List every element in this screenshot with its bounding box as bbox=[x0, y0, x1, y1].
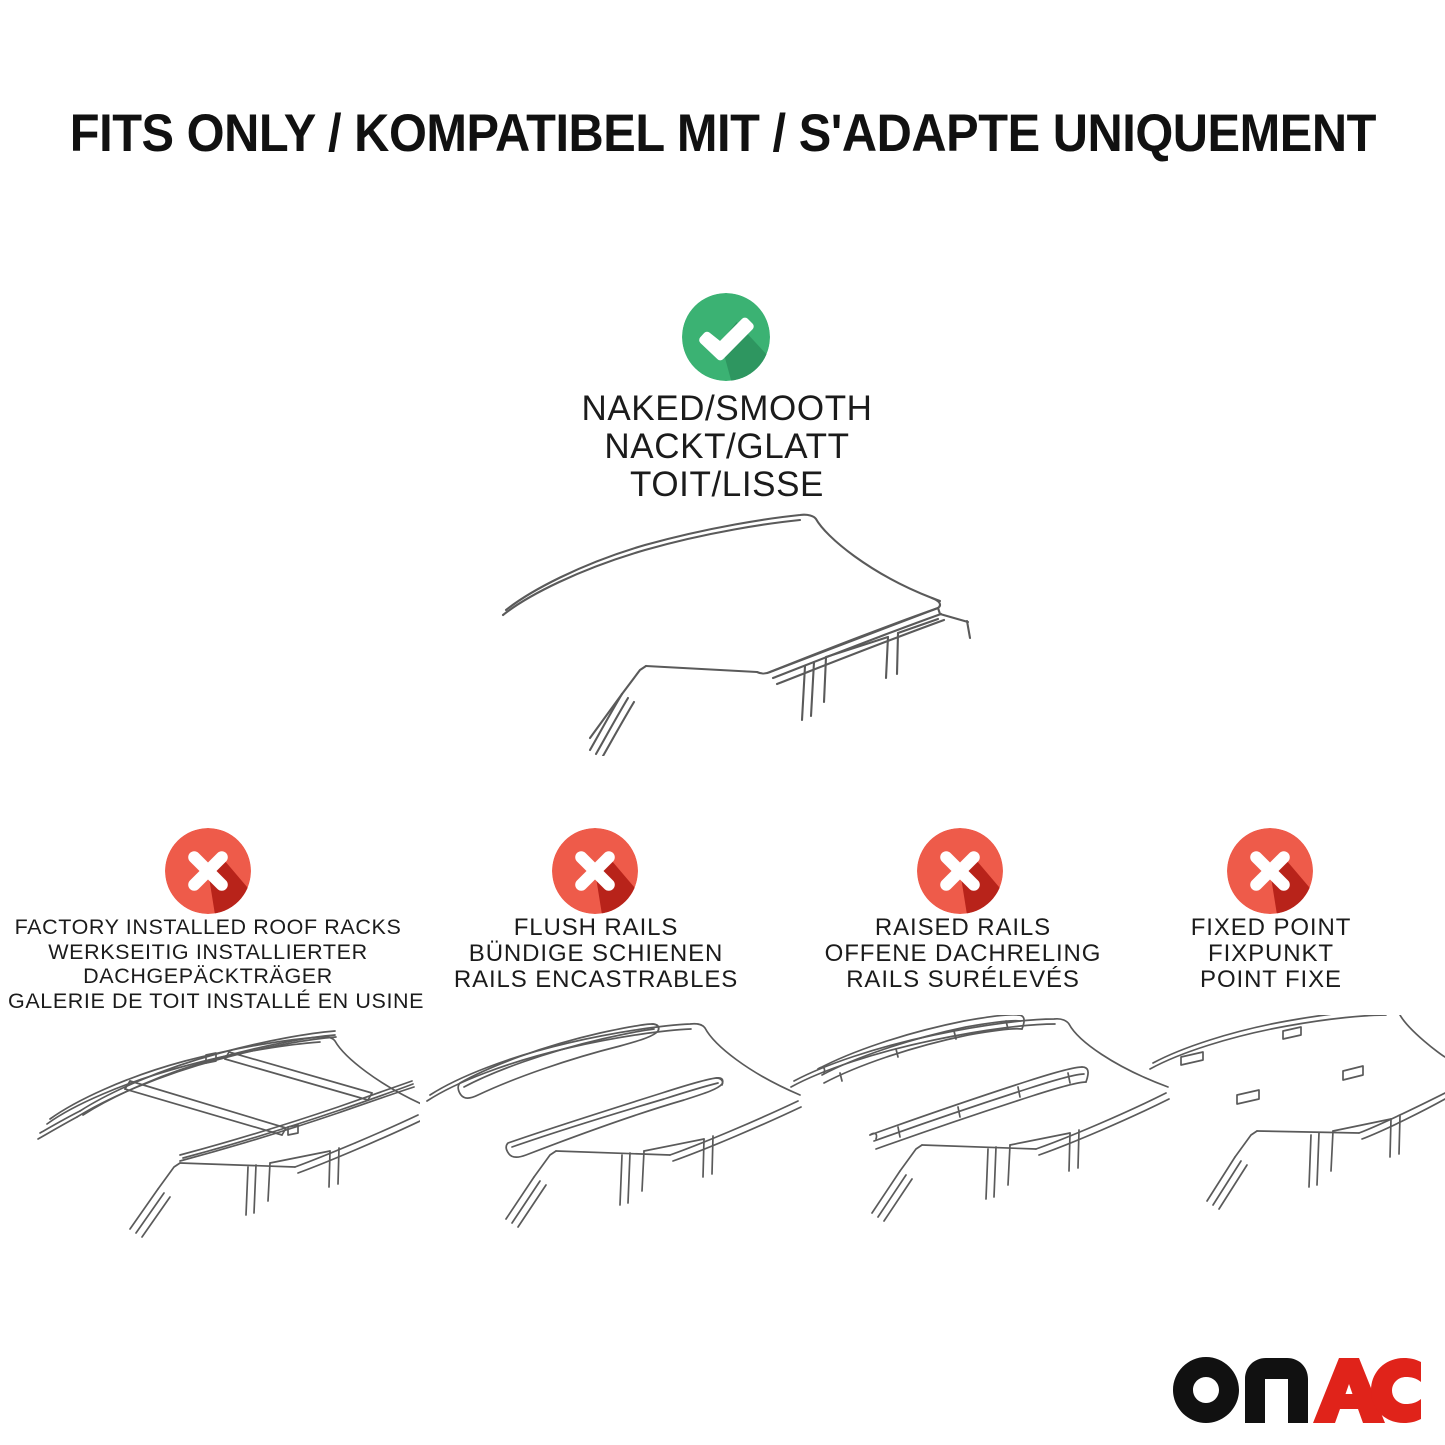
compatible-label: NAKED/SMOOTH NACKT/GLATT TOIT/LISSE bbox=[487, 390, 967, 504]
incompatible-label-fixed-point: FIXED POINT FIXPUNKT POINT FIXE bbox=[1140, 915, 1402, 993]
label-line-2: WERKSEITIG INSTALLIERTER bbox=[8, 940, 408, 965]
car-roof-factory-racks-illustration bbox=[20, 1015, 420, 1255]
label-line-2: OFFENE DACHRELING bbox=[788, 941, 1138, 967]
cross-circle-icon bbox=[1227, 828, 1313, 914]
car-roof-raised-rails-illustration bbox=[778, 1015, 1178, 1255]
page-title: FITS ONLY / KOMPATIBEL MIT / S'ADAPTE UN… bbox=[0, 104, 1445, 164]
label-line-2: FIXPUNKT bbox=[1140, 941, 1402, 967]
page-title-text: FITS ONLY / KOMPATIBEL MIT / S'ADAPTE UN… bbox=[69, 104, 1375, 164]
car-roof-naked-smooth-illustration bbox=[470, 488, 990, 756]
omac-logo bbox=[1173, 1357, 1421, 1423]
label-line-2: BÜNDIGE SCHIENEN bbox=[420, 941, 772, 967]
label-line-3: RAILS ENCASTRABLES bbox=[420, 967, 772, 993]
compatible-label-line-2: NACKT/GLATT bbox=[487, 428, 967, 466]
label-line-3: DACHGEPÄCKTRÄGER bbox=[8, 964, 408, 989]
label-line-4: GALERIE DE TOIT INSTALLÉ EN USINE bbox=[8, 989, 408, 1014]
cross-circle-icon bbox=[165, 828, 251, 914]
cross-circle-icon bbox=[917, 828, 1003, 914]
car-roof-flush-rails-illustration bbox=[408, 1015, 808, 1255]
incompatible-label-flush-rails: FLUSH RAILS BÜNDIGE SCHIENEN RAILS ENCAS… bbox=[420, 915, 772, 993]
compatible-label-line-1: NAKED/SMOOTH bbox=[487, 390, 967, 428]
label-line-3: POINT FIXE bbox=[1140, 967, 1402, 993]
car-roof-fixed-point-illustration bbox=[1145, 1015, 1445, 1255]
label-line-1: RAISED RAILS bbox=[788, 915, 1138, 941]
incompatible-label-raised-rails: RAISED RAILS OFFENE DACHRELING RAILS SUR… bbox=[788, 915, 1138, 993]
label-line-1: FIXED POINT bbox=[1140, 915, 1402, 941]
cross-circle-icon bbox=[552, 828, 638, 914]
label-line-1: FACTORY INSTALLED ROOF RACKS bbox=[8, 915, 408, 940]
label-line-3: RAILS SURÉLEVÉS bbox=[788, 967, 1138, 993]
check-circle-icon bbox=[682, 293, 770, 381]
label-line-1: FLUSH RAILS bbox=[420, 915, 772, 941]
incompatible-label-factory-racks: FACTORY INSTALLED ROOF RACKS WERKSEITIG … bbox=[8, 915, 408, 1013]
